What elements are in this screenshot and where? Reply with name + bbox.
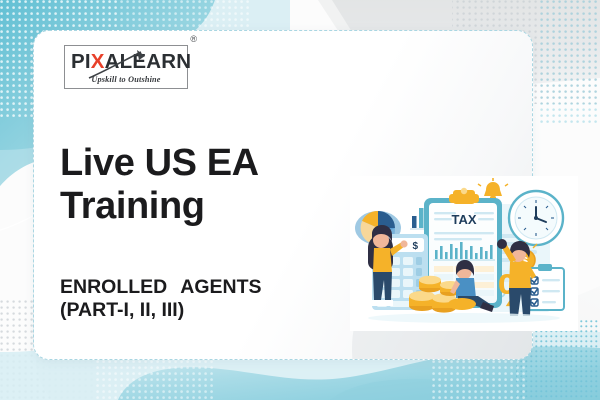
logo-word-x: X xyxy=(91,50,105,73)
logo-tagline: Upskill to Outshine xyxy=(71,75,181,84)
headline-line-1: Live US EA xyxy=(60,142,335,185)
wall-clock-icon xyxy=(509,191,563,245)
tax-illustration-svg: TAX xyxy=(350,176,578,331)
subtitle-word-enrolled: ENROLLED xyxy=(60,276,167,298)
headline-line-2: Training xyxy=(60,185,335,228)
logo-word-part1: PI xyxy=(71,50,91,73)
subtitle-line-2: (PART-I, II, III) xyxy=(60,299,184,322)
logo-word-part2: ALEARN xyxy=(105,50,192,73)
subtitle-line-1: ENROLLEDAGENTS xyxy=(60,276,262,299)
logo-wordmark: PIXALEARN xyxy=(71,52,181,73)
calculator-display: $ xyxy=(412,241,418,252)
registered-trademark-icon: ® xyxy=(190,35,197,44)
tax-illustration: TAX xyxy=(350,176,578,331)
brand-logo: ® PIXALEARN Upskill to Outshine xyxy=(64,45,188,89)
headline: Live US EA Training xyxy=(60,142,335,227)
subtitle-word-agents: AGENTS xyxy=(180,276,261,298)
promotional-banner: ® PIXALEARN Upskill to Outshine Live US … xyxy=(0,0,600,400)
logo-frame: ® PIXALEARN Upskill to Outshine xyxy=(64,45,188,89)
